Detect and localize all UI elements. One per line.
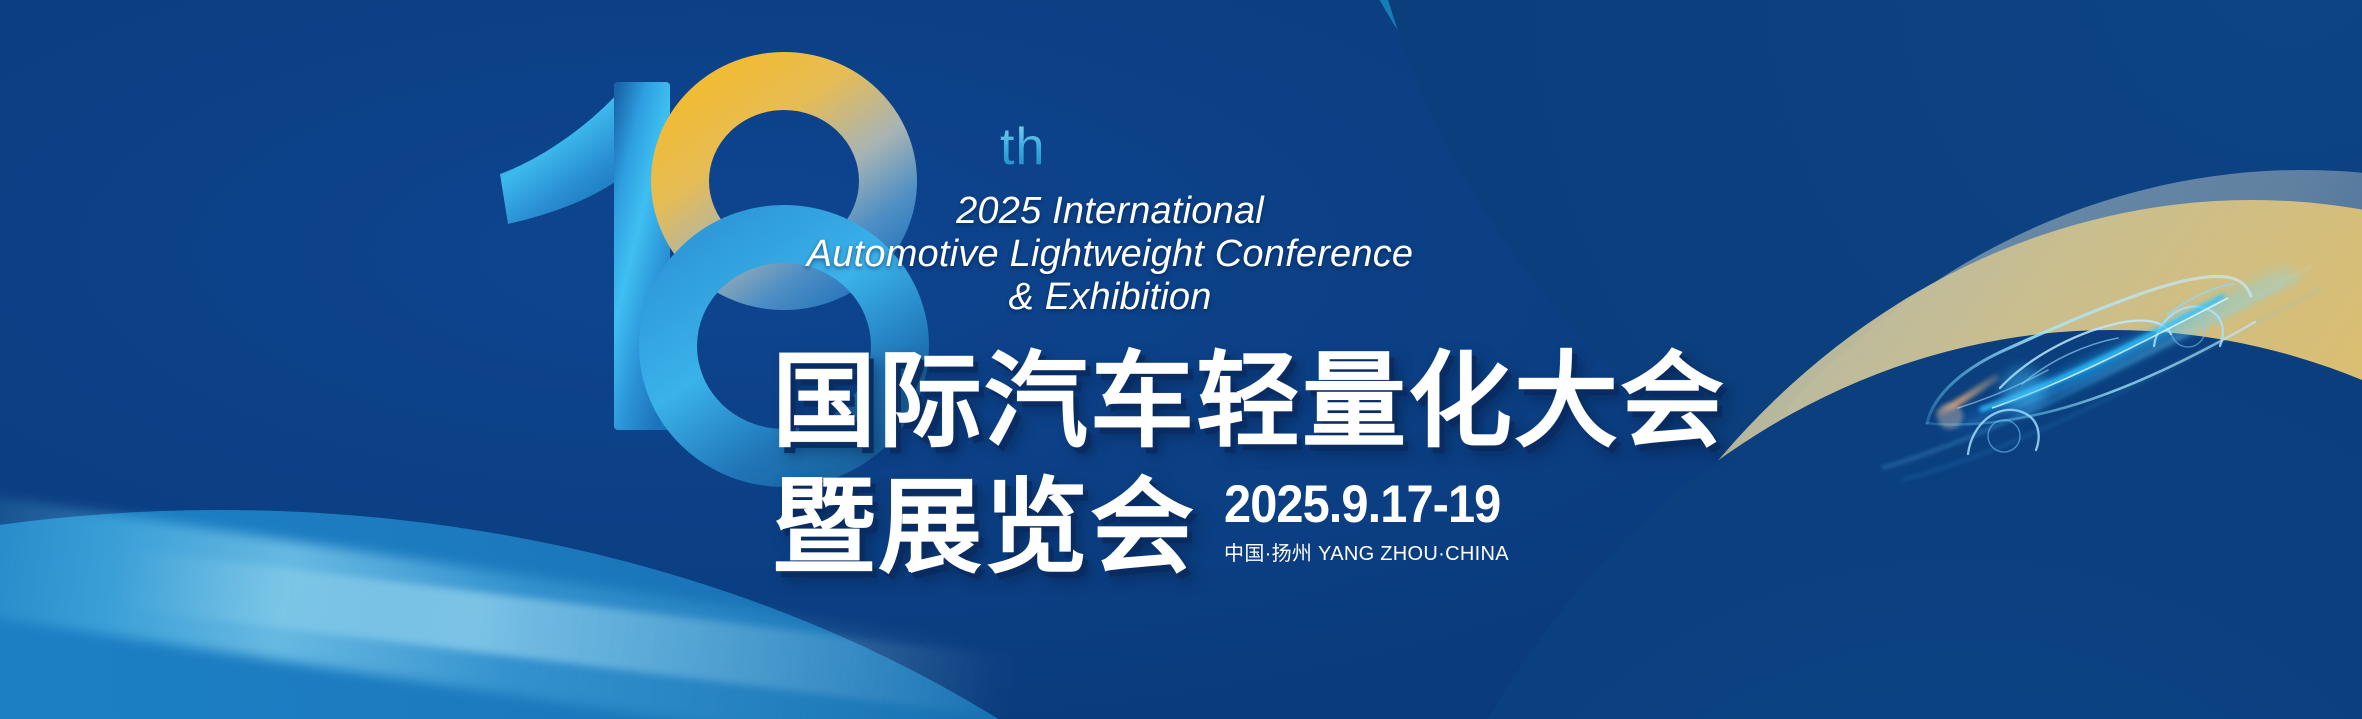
chinese-title-row2: 暨展览会 2025.9.17-19 中国·扬州 YANG ZHOU·CHINA: [772, 476, 1524, 580]
english-title-line2: Automotive Lightweight Conference: [760, 233, 1460, 276]
edition-ordinal-suffix: th: [1000, 117, 1045, 177]
event-date-location: 2025.9.17-19 中国·扬州 YANG ZHOU·CHINA: [1224, 478, 1524, 580]
english-title: 2025 International Automotive Lightweigh…: [760, 190, 1460, 319]
chinese-title-line1: 国际汽车轻量化大会: [772, 350, 1726, 454]
event-location: 中国·扬州 YANG ZHOU·CHINA: [1224, 537, 1524, 566]
chinese-title-line2: 暨展览会: [772, 476, 1196, 580]
event-date: 2025.9.17-19: [1224, 478, 1500, 532]
banner-text-content: th 2025 International Automotive Lightwe…: [0, 0, 2362, 719]
english-title-line1: 2025 International: [760, 190, 1460, 233]
conference-banner: th 2025 International Automotive Lightwe…: [0, 0, 2362, 719]
english-title-line3: & Exhibition: [760, 276, 1460, 319]
